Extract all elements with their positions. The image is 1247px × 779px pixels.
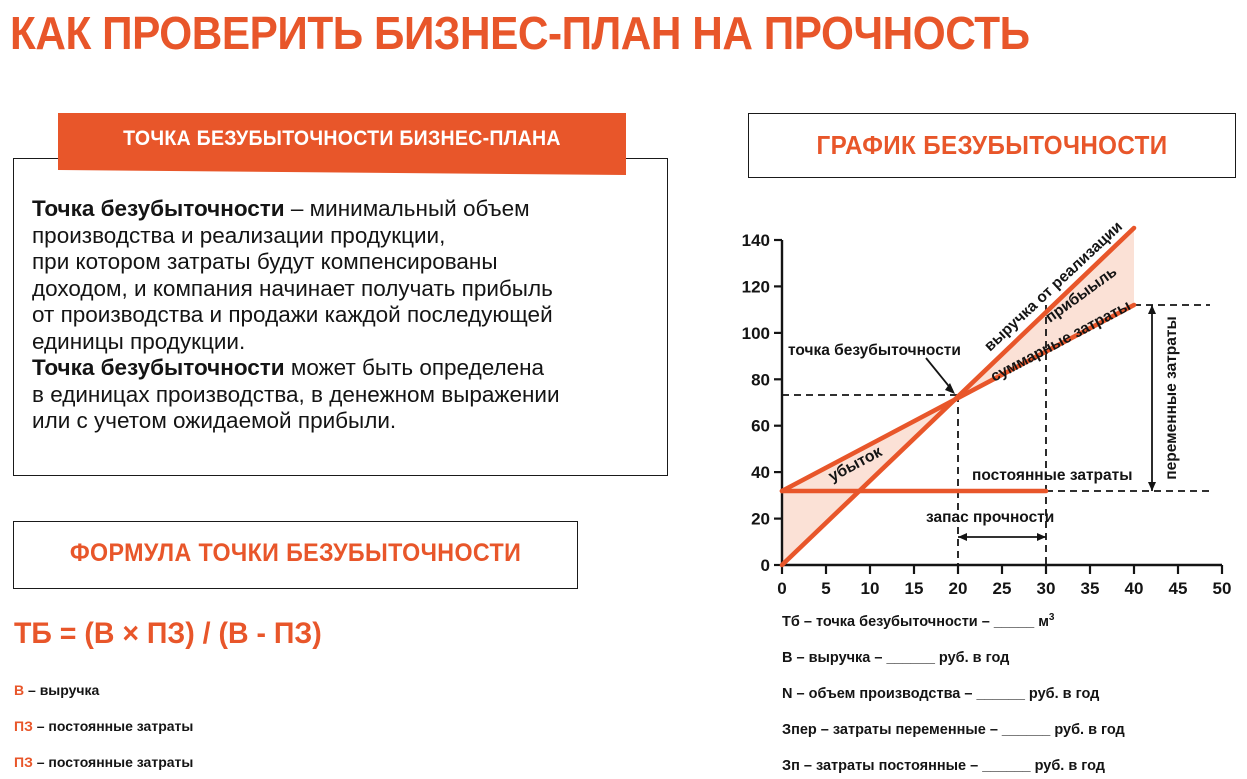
- chart-legend-item: N – объем производства – ______ руб. в г…: [782, 686, 1099, 702]
- formula-legend-item: В – выручка: [14, 682, 99, 698]
- definition-line-text: при котором затраты будут компенсированы: [32, 249, 498, 274]
- y-axis-labels: 0 20 40 60 80 100 120 140: [742, 231, 770, 575]
- definition-line: от производства и продажи каждой последу…: [32, 302, 652, 329]
- formula-legend-symbol: В: [14, 682, 24, 698]
- definition-line-text: доходом, и компания начинает получать пр…: [32, 276, 553, 301]
- formula-panel-title: ФОРМУЛА ТОЧКИ БЕЗУБЫТОЧНОСТИ: [34, 539, 558, 568]
- x-tick-label: 10: [861, 579, 880, 598]
- formula-legend-description: – выручка: [24, 682, 99, 698]
- safety-margin-arrow-head-left: [958, 533, 967, 541]
- y-tick-label: 0: [761, 556, 770, 575]
- chart-legend-text: – объем производства – ______ руб. в год: [792, 686, 1099, 702]
- x-axis-labels: 0 5 10 15 20 25 30 35 40 45 50: [777, 579, 1231, 598]
- chart-legend-superscript: 3: [1049, 612, 1055, 623]
- x-tick-label: 5: [821, 579, 830, 598]
- chart-legend-text: – точка безубыточности – _____ м: [800, 614, 1049, 630]
- definition-panel-banner: ТОЧКА БЕЗУБЫТОЧНОСТИ БИЗНЕС-ПЛАНА: [58, 113, 626, 175]
- formula-legend-description: – постоянные затраты: [33, 718, 194, 734]
- definition-line: доходом, и компания начинает получать пр…: [32, 276, 652, 303]
- chart-legend-symbol: Тб: [782, 614, 800, 630]
- chart-legend-item: Тб – точка безубыточности – _____ м3: [782, 612, 1054, 630]
- y-tick-label: 20: [751, 510, 770, 529]
- definition-line-text: – минимальный объем: [285, 196, 530, 221]
- x-tick-label: 20: [949, 579, 968, 598]
- y-tick-label: 100: [742, 324, 770, 343]
- safety-margin-arrow-head-right: [1037, 533, 1046, 541]
- chart-legend-item: В – выручка – ______ руб. в год: [782, 650, 1009, 666]
- chart-legend-symbol: Зп: [782, 758, 800, 774]
- y-tick-label: 40: [751, 463, 770, 482]
- y-tick-label: 120: [742, 277, 770, 296]
- x-axis-ticks: [782, 565, 1222, 574]
- chart-legend-item: Зпер – затраты переменные – ______ руб. …: [782, 722, 1125, 738]
- y-tick-label: 80: [751, 370, 770, 389]
- definition-line-text: единицы продукции.: [32, 329, 245, 354]
- x-tick-label: 35: [1081, 579, 1100, 598]
- definition-line: при котором затраты будут компенсированы: [32, 249, 652, 276]
- chart-legend-text: – затраты постоянные – ______ руб. в год: [800, 758, 1105, 774]
- x-tick-label: 45: [1169, 579, 1188, 598]
- formula-panel-box: ФОРМУЛА ТОЧКИ БЕЗУБЫТОЧНОСТИ: [13, 521, 578, 589]
- chart-legend-symbol: Зпер: [782, 722, 817, 738]
- y-tick-label: 60: [751, 417, 770, 436]
- chart-panel-title: ГРАФИК БЕЗУБЫТОЧНОСТИ: [766, 130, 1218, 161]
- x-tick-label: 0: [777, 579, 786, 598]
- x-tick-label: 30: [1037, 579, 1056, 598]
- formula-legend-description: – постоянные затраты: [33, 754, 194, 770]
- formula-expression: ТБ = (В × ПЗ) / (В - ПЗ): [14, 617, 322, 651]
- formula-legend-item: ПЗ – постоянные затраты: [14, 754, 193, 770]
- definition-line: единицы продукции.: [32, 329, 652, 356]
- definition-line: Точка безубыточности может быть определе…: [32, 355, 652, 382]
- definition-line: в единицах производства, в денежном выра…: [32, 382, 652, 409]
- break-even-annotation-label: точка безубыточности: [788, 342, 961, 359]
- fixed-costs-line-label: постоянные затраты: [972, 467, 1132, 484]
- formula-legend-symbol: ПЗ: [14, 718, 33, 734]
- x-tick-label: 25: [993, 579, 1012, 598]
- formula-legend-symbol: ПЗ: [14, 754, 33, 770]
- variable-costs-label: переменные затраты: [1163, 316, 1180, 479]
- definition-panel-title: ТОЧКА БЕЗУБЫТОЧНОСТИ БИЗНЕС-ПЛАНА: [78, 127, 606, 151]
- formula-legend-item: ПЗ – постоянные затраты: [14, 718, 193, 734]
- definition-panel-body: Точка безубыточности – минимальный объем…: [32, 196, 652, 435]
- break-even-chart: 0 20 40 60 80 100 120 140: [740, 210, 1240, 600]
- definition-line-bold: Точка безубыточности: [32, 196, 285, 221]
- chart-legend-item: Зп – затраты постоянные – ______ руб. в …: [782, 758, 1105, 774]
- chart-legend-text: – выручка – ______ руб. в год: [792, 650, 1009, 666]
- x-tick-label: 50: [1213, 579, 1232, 598]
- safety-margin-label: запас прочности: [926, 509, 1054, 526]
- definition-line-text: может быть определена: [285, 355, 544, 380]
- chart-legend-text: – затраты переменные – ______ руб. в год: [817, 722, 1125, 738]
- y-tick-label: 140: [742, 231, 770, 250]
- break-even-arrow: [926, 358, 952, 390]
- chart-legend-symbol: В: [782, 650, 792, 666]
- definition-line: или с учетом ожидаемой прибыли.: [32, 408, 652, 435]
- definition-line-text: в единицах производства, в денежном выра…: [32, 382, 560, 407]
- definition-line-text: или с учетом ожидаемой прибыли.: [32, 408, 396, 433]
- definition-line: производства и реализации продукции,: [32, 223, 652, 250]
- definition-line-bold: Точка безубыточности: [32, 355, 285, 380]
- variable-costs-arrow-head-top: [1148, 305, 1156, 314]
- y-axis-ticks: [774, 240, 782, 565]
- x-tick-label: 15: [905, 579, 924, 598]
- chart-panel-box: ГРАФИК БЕЗУБЫТОЧНОСТИ: [748, 113, 1236, 178]
- definition-line-text: производства и реализации продукции,: [32, 223, 445, 248]
- definition-line: Точка безубыточности – минимальный объем: [32, 196, 652, 223]
- variable-costs-arrow-head-bottom: [1148, 482, 1156, 491]
- x-tick-label: 40: [1125, 579, 1144, 598]
- definition-line-text: от производства и продажи каждой последу…: [32, 302, 553, 327]
- page-title: КАК ПРОВЕРИТЬ БИЗНЕС-ПЛАН НА ПРОЧНОСТЬ: [10, 6, 1030, 60]
- infographic-page: КАК ПРОВЕРИТЬ БИЗНЕС-ПЛАН НА ПРОЧНОСТЬ Т…: [0, 0, 1247, 779]
- chart-legend-symbol: N: [782, 686, 792, 702]
